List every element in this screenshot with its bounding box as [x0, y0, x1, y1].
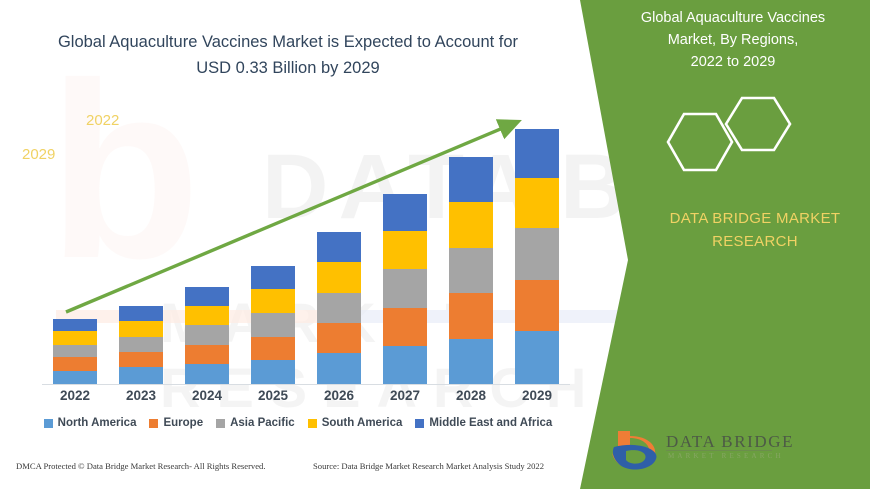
logo-wordmark: DATA BRIDGE — [666, 432, 794, 452]
legend-swatch-icon — [308, 419, 317, 428]
hexagon-2029-shape — [668, 114, 732, 170]
trend-arrow — [18, 100, 578, 385]
chart-legend: North AmericaEuropeAsia PacificSouth Ame… — [18, 417, 578, 429]
stacked-bar-chart — [18, 100, 578, 385]
page-title-line2: USD 0.33 Billion by 2029 — [28, 56, 548, 82]
legend-swatch-icon — [415, 419, 424, 428]
legend-label: South America — [322, 417, 403, 429]
legend-item-asia-pacific[interactable]: Asia Pacific — [216, 417, 295, 429]
logo-tagline: MARKET RESEARCH — [668, 452, 784, 460]
panel-heading: Global Aquaculture Vaccines Market, By R… — [608, 8, 858, 73]
infographic-canvas: b DATA BRIDGE MARKET RESEARCH Global Aqu… — [0, 0, 870, 489]
panel-heading-line3: 2022 to 2029 — [608, 52, 858, 74]
x-axis-label-2022: 2022 — [45, 388, 105, 403]
x-axis-label-2027: 2027 — [375, 388, 435, 403]
brand-name-line2: RESEARCH — [640, 231, 870, 254]
hexagon-2022-shape — [726, 98, 790, 150]
hexagon-2022-label: 2022 — [86, 112, 119, 129]
legend-item-north-america[interactable]: North America — [44, 417, 137, 429]
legend-label: Europe — [163, 417, 203, 429]
hexagon-2029-label: 2029 — [22, 146, 55, 163]
legend-item-middle-east-and-africa[interactable]: Middle East and Africa — [415, 417, 552, 429]
legend-item-south-america[interactable]: South America — [308, 417, 403, 429]
panel-heading-line2: Market, By Regions, — [608, 30, 858, 52]
footer-copyright: DMCA Protected © Data Bridge Market Rese… — [16, 461, 266, 471]
page-title-line1: Global Aquaculture Vaccines Market is Ex… — [28, 30, 548, 56]
legend-label: Asia Pacific — [230, 417, 295, 429]
x-axis-label-2025: 2025 — [243, 388, 303, 403]
x-axis-label-2023: 2023 — [111, 388, 171, 403]
legend-label: Middle East and Africa — [429, 417, 552, 429]
page-title: Global Aquaculture Vaccines Market is Ex… — [28, 30, 548, 81]
legend-swatch-icon — [149, 419, 158, 428]
x-axis-label-2028: 2028 — [441, 388, 501, 403]
x-axis-labels: 20222023202420252026202720282029 — [18, 388, 578, 408]
panel-heading-line1: Global Aquaculture Vaccines — [608, 8, 858, 30]
logo-divider — [666, 450, 772, 451]
brand-name: DATA BRIDGE MARKET RESEARCH — [640, 208, 870, 253]
hexagon-pair — [660, 92, 820, 192]
x-axis-label-2029: 2029 — [507, 388, 567, 403]
legend-label: North America — [58, 417, 137, 429]
legend-swatch-icon — [216, 419, 225, 428]
x-axis-label-2024: 2024 — [177, 388, 237, 403]
legend-item-europe[interactable]: Europe — [149, 417, 203, 429]
brand-name-line1: DATA BRIDGE MARKET — [640, 208, 870, 231]
footer-source: Source: Data Bridge Market Research Mark… — [313, 461, 544, 471]
legend-swatch-icon — [44, 419, 53, 428]
x-axis-label-2026: 2026 — [309, 388, 369, 403]
